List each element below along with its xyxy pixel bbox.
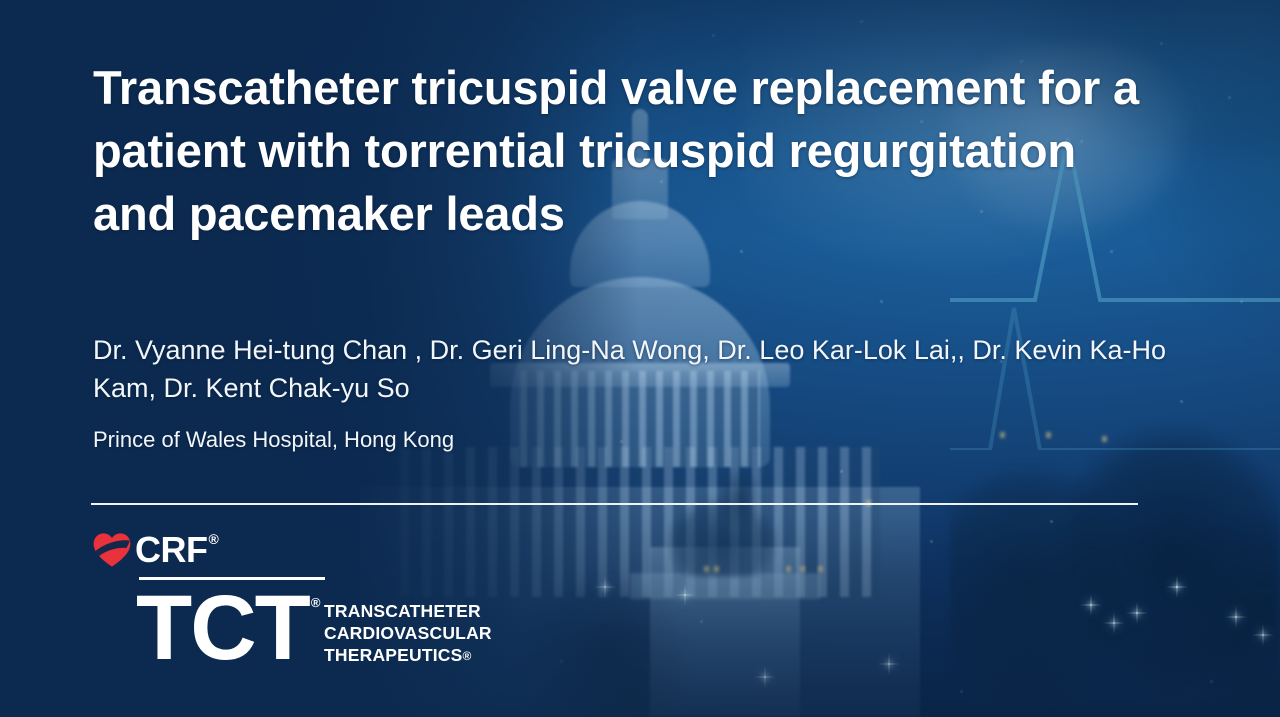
tct-logo: TCT ® — [136, 584, 320, 672]
crf-logo: CRF ® — [92, 528, 218, 572]
crf-tct-logo: CRF ® TCT ® TRANSCATHETER CARDIOVASCULAR… — [92, 528, 522, 673]
crf-registered-mark: ® — [209, 532, 219, 546]
tagline-registered-mark: ® — [463, 649, 472, 663]
tagline-line-2: CARDIOVASCULAR — [324, 622, 492, 644]
presentation-title-slide: Transcatheter tricuspid valve replacemen… — [0, 0, 1280, 717]
crf-wordmark: CRF — [135, 532, 208, 568]
tct-registered-mark: ® — [311, 596, 321, 609]
author-list: Dr. Vyanne Hei-tung Chan , Dr. Geri Ling… — [93, 331, 1183, 407]
crf-heart-icon — [92, 530, 132, 570]
tct-tagline: TRANSCATHETER CARDIOVASCULAR THERAPEUTIC… — [324, 600, 492, 667]
tct-wordmark: TCT — [136, 584, 309, 672]
horizontal-divider — [91, 503, 1138, 505]
tagline-line-3: THERAPEUTICS — [324, 645, 463, 665]
slide-content: Transcatheter tricuspid valve replacemen… — [0, 0, 1280, 717]
slide-title: Transcatheter tricuspid valve replacemen… — [93, 56, 1153, 245]
affiliation-text: Prince of Wales Hospital, Hong Kong — [93, 425, 454, 455]
tagline-line-3-wrap: THERAPEUTICS® — [324, 644, 492, 667]
tagline-line-1: TRANSCATHETER — [324, 600, 492, 622]
